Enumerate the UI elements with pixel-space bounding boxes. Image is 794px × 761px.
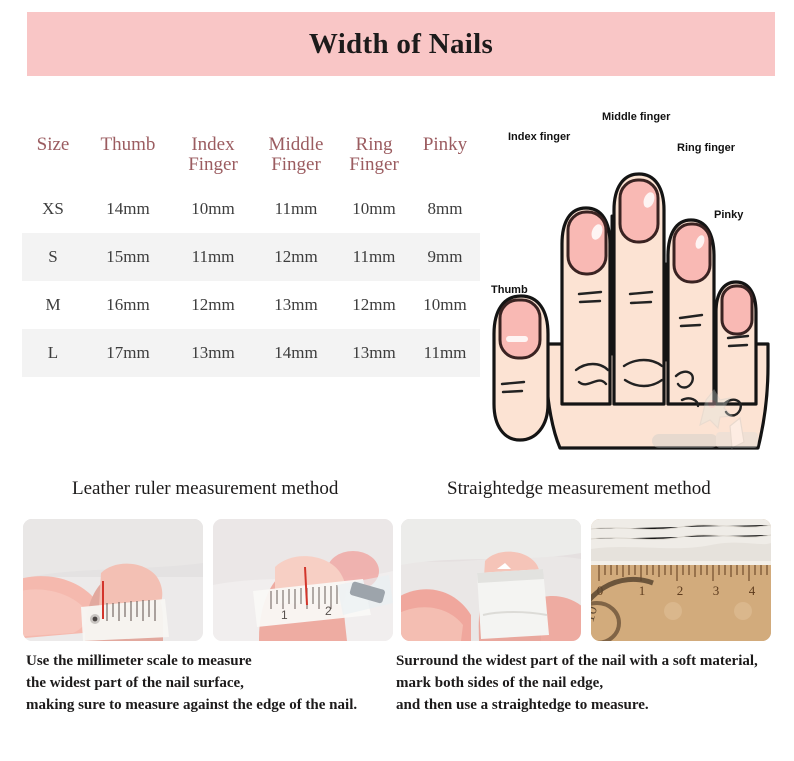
ruler-tick-1: 1 (639, 583, 646, 598)
column-header-middle-finger: Middle Finger (254, 133, 338, 185)
cell-middle: 14mm (254, 329, 338, 377)
nail-index (568, 212, 606, 274)
size-chart-table-container: Size Thumb Index Finger Middle Finger Ri… (22, 133, 480, 377)
cell-ring: 13mm (338, 329, 410, 377)
hand-diagram: Index finger Middle finger Ring finger P… (484, 104, 790, 456)
ruler-tick-3: 3 (713, 583, 720, 598)
cell-middle: 11mm (254, 185, 338, 233)
cell-middle: 13mm (254, 281, 338, 329)
table-row: S 15mm 11mm 12mm 11mm 9mm (22, 233, 480, 281)
method-photo-strip: 1 2 (23, 519, 773, 641)
leather-ruler-method-title: Leather ruler measurement method (72, 478, 338, 500)
cell-thumb: 17mm (84, 329, 172, 377)
table-header: Size Thumb Index Finger Middle Finger Ri… (22, 133, 480, 185)
cell-pinky: 11mm (410, 329, 480, 377)
cell-index: 10mm (172, 185, 254, 233)
cell-thumb: 15mm (84, 233, 172, 281)
page-header-banner: Width of Nails (27, 12, 775, 76)
column-header-pinky: Pinky (410, 133, 480, 185)
table-row: M 16mm 12mm 13mm 12mm 10mm (22, 281, 480, 329)
hand-label-index-finger: Index finger (508, 131, 570, 143)
straightedge-method-caption: Surround the widest part of the nail wit… (396, 650, 786, 716)
page-title: Width of Nails (309, 28, 493, 61)
hand-label-thumb: Thumb (491, 284, 528, 296)
photo-wooden-ruler: 0 1 2 3 4 10 (591, 519, 771, 641)
nail-thumb (500, 300, 540, 358)
cell-index: 12mm (172, 281, 254, 329)
svg-text:1: 1 (281, 608, 288, 622)
photo-finger-tape-wrapped: 1 2 (213, 519, 393, 641)
nail-pinky (722, 286, 752, 334)
cell-pinky: 9mm (410, 233, 480, 281)
table-body: XS 14mm 10mm 11mm 10mm 8mm S 15mm 11mm 1… (22, 185, 480, 377)
methods-title-row: Leather ruler measurement method Straigh… (0, 478, 794, 506)
table-header-row: Size Thumb Index Finger Middle Finger Ri… (22, 133, 480, 185)
straightedge-method-title: Straightedge measurement method (447, 478, 711, 500)
cell-middle: 12mm (254, 233, 338, 281)
cell-size: L (22, 329, 84, 377)
hand-illustration-svg (484, 104, 790, 456)
column-header-size: Size (22, 133, 84, 185)
table-row: XS 14mm 10mm 11mm 10mm 8mm (22, 185, 480, 233)
cell-ring: 11mm (338, 233, 410, 281)
photo-finger-paper-strip (401, 519, 581, 641)
cell-thumb: 14mm (84, 185, 172, 233)
column-header-ring-finger: Ring Finger (338, 133, 410, 185)
hand-label-ring-finger: Ring finger (677, 142, 735, 154)
nail-ring (674, 224, 710, 282)
svg-text:2: 2 (325, 604, 332, 618)
size-chart-table: Size Thumb Index Finger Middle Finger Ri… (22, 133, 480, 377)
cell-thumb: 16mm (84, 281, 172, 329)
cell-ring: 12mm (338, 281, 410, 329)
hand-label-middle-finger: Middle finger (602, 111, 670, 123)
cell-pinky: 8mm (410, 185, 480, 233)
ruler-tick-2: 2 (677, 583, 684, 598)
column-header-index-finger: Index Finger (172, 133, 254, 185)
table-row: L 17mm 13mm 14mm 13mm 11mm (22, 329, 480, 377)
cell-pinky: 10mm (410, 281, 480, 329)
leather-ruler-method-caption: Use the millimeter scale to measure the … (26, 650, 386, 716)
ruler-tick-4: 4 (749, 583, 756, 598)
nail-middle (620, 180, 658, 242)
photo-finger-tape-closeup (23, 519, 203, 641)
cell-size: XS (22, 185, 84, 233)
hand-label-pinky: Pinky (714, 209, 743, 221)
column-header-thumb: Thumb (84, 133, 172, 185)
cell-index: 13mm (172, 329, 254, 377)
cell-ring: 10mm (338, 185, 410, 233)
cell-index: 11mm (172, 233, 254, 281)
cell-size: M (22, 281, 84, 329)
cell-size: S (22, 233, 84, 281)
